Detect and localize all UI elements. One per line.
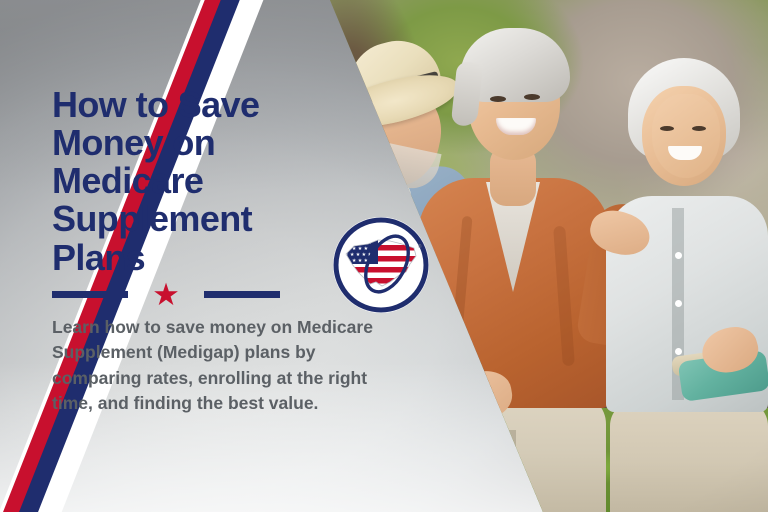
- page-title: How to Save Money on Medicare Supplement…: [52, 86, 342, 277]
- medicare-supplement-banner: How to Save Money on Medicare Supplement…: [0, 0, 768, 512]
- right-woman-button-1: [675, 252, 682, 259]
- divider-bar-right: [204, 291, 280, 298]
- divider-bar-left: [52, 291, 128, 298]
- right-woman-button-2: [675, 300, 682, 307]
- center-woman-eye-right: [524, 94, 540, 100]
- star-icon: ★: [149, 279, 183, 310]
- usa-map-orbit-logo: ★ ★ ★ ★ ★ ★ ★ ★ ★ ★ ★ ★ ★ ★ ★ ★ ★ ★ ®: [330, 214, 432, 316]
- subheadline: Learn how to save money on Medicare Supp…: [52, 315, 408, 417]
- right-woman-eye-right: [692, 126, 706, 131]
- right-woman-eye-left: [660, 126, 674, 131]
- center-woman-eye-left: [490, 96, 506, 102]
- divider: ★: [52, 281, 280, 307]
- right-woman-legs: [610, 400, 768, 512]
- right-woman-button-3: [675, 348, 682, 355]
- right-woman-face: [652, 94, 720, 178]
